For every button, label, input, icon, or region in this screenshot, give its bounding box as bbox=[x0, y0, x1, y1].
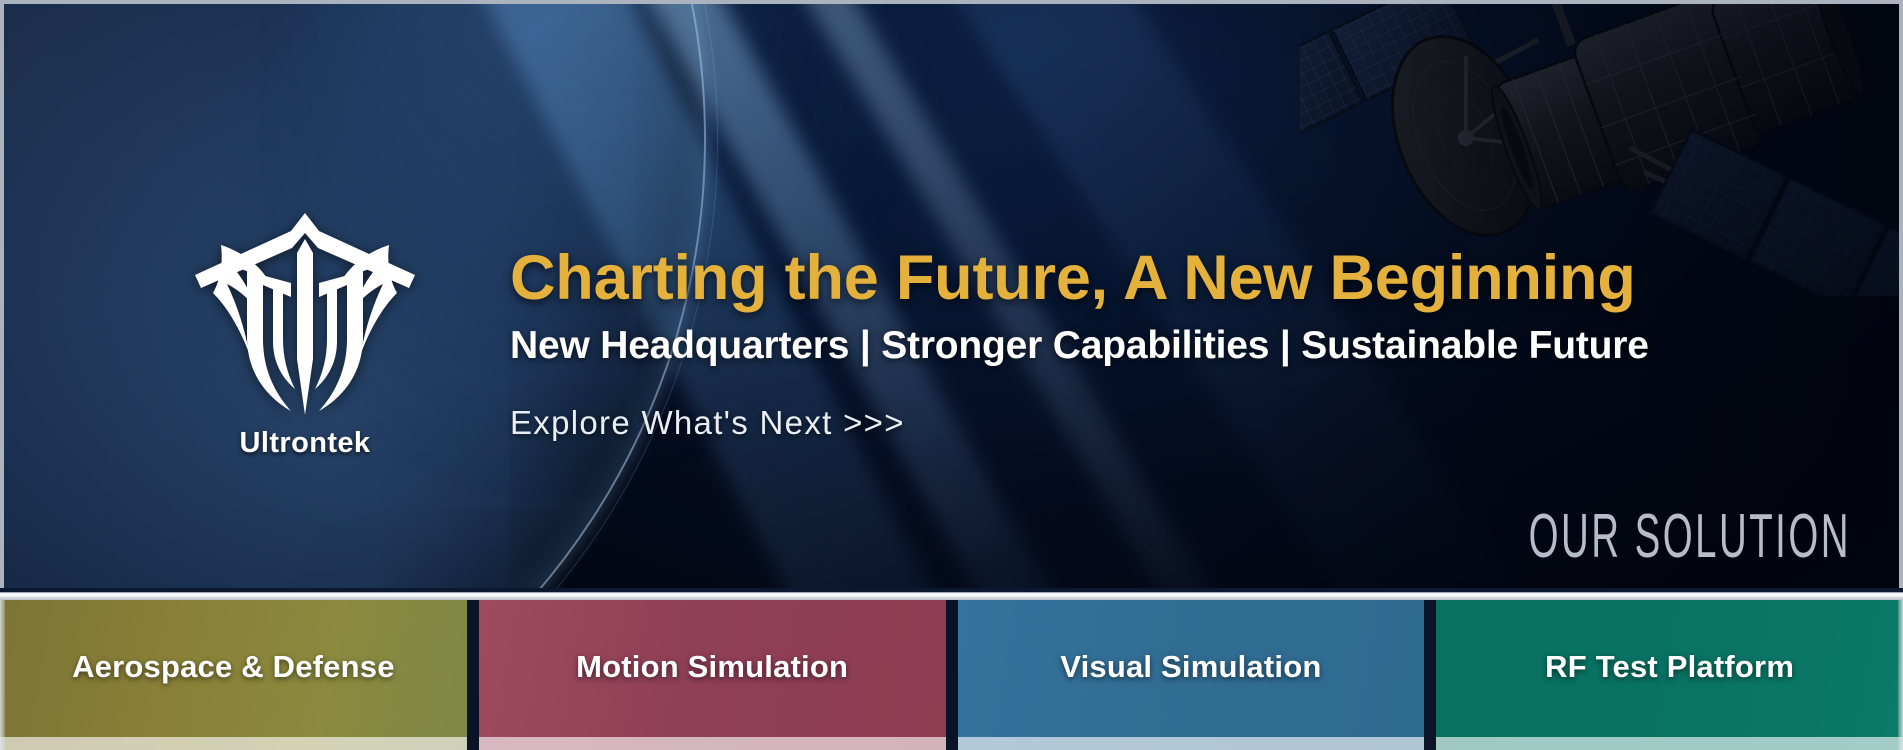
brand-logo[interactable]: Ultrontek bbox=[180, 209, 430, 499]
hero-artwork: Ultrontek Charting the Future, A New Beg… bbox=[4, 4, 1899, 594]
tile-bottom-band bbox=[1436, 737, 1903, 750]
ultrontek-trident-shield-logo-icon bbox=[187, 209, 423, 419]
tile-visual-simulation[interactable]: Visual Simulation bbox=[952, 600, 1431, 750]
brand-name: Ultrontek bbox=[180, 427, 430, 460]
tile-label: Motion Simulation bbox=[576, 649, 848, 685]
tile-label: Visual Simulation bbox=[1060, 649, 1321, 685]
explore-cta-link[interactable]: Explore What's Next >>> bbox=[510, 404, 1800, 442]
hero-copy: Charting the Future, A New Beginning New… bbox=[510, 244, 1800, 442]
solution-tiles: Aerospace & Defense Motion Simulation Vi… bbox=[0, 600, 1903, 750]
hero-banner: Ultrontek Charting the Future, A New Beg… bbox=[0, 0, 1903, 594]
tile-rf-test-platform[interactable]: RF Test Platform bbox=[1430, 600, 1903, 750]
tile-bottom-band bbox=[958, 737, 1425, 750]
tile-motion-simulation[interactable]: Motion Simulation bbox=[473, 600, 952, 750]
tile-label: RF Test Platform bbox=[1545, 649, 1794, 685]
hero-headline: Charting the Future, A New Beginning bbox=[510, 244, 1800, 312]
tile-aerospace-defense[interactable]: Aerospace & Defense bbox=[0, 600, 473, 750]
tile-label: Aerospace & Defense bbox=[72, 649, 395, 685]
tile-bottom-band bbox=[0, 737, 467, 750]
tile-bottom-band bbox=[479, 737, 946, 750]
our-solution-label: OUR SOLUTION bbox=[1529, 501, 1851, 572]
hero-subheadline: New Headquarters | Stronger Capabilities… bbox=[510, 324, 1800, 368]
page-root: Ultrontek Charting the Future, A New Beg… bbox=[0, 0, 1903, 750]
